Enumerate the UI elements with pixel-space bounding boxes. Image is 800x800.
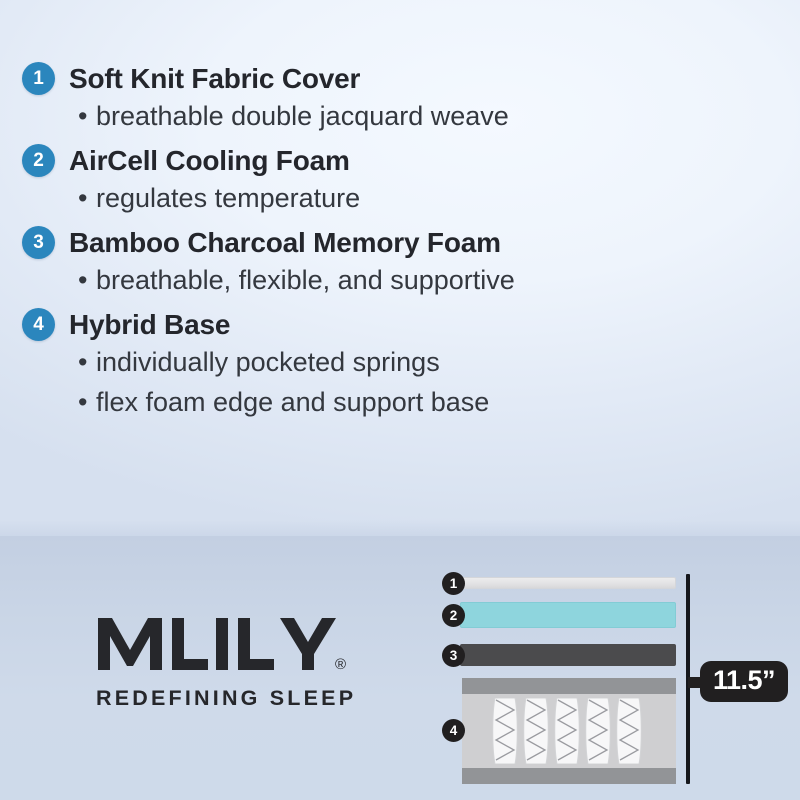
feature-bullets-2: • regulates temperature — [0, 179, 760, 218]
feature-list: 1 Soft Knit Fabric Cover • breathable do… — [0, 62, 760, 430]
bullet-dot-icon: • — [78, 383, 87, 422]
hybrid-base-bottom-band — [462, 768, 676, 784]
infographic-page: 1 Soft Knit Fabric Cover • breathable do… — [0, 0, 800, 800]
bullet-text: individually pocketed springs — [96, 347, 440, 377]
feature-item-3: 3 Bamboo Charcoal Memory Foam • breathab… — [0, 226, 760, 300]
feature-heading-1: 1 Soft Knit Fabric Cover — [0, 62, 760, 95]
feature-bullets-1: • breathable double jacquard weave — [0, 97, 760, 136]
bullet-dot-icon: • — [78, 261, 87, 300]
diagram-layer-2-aircell-cooling-foam — [460, 602, 676, 628]
feature-badge-1: 1 — [22, 62, 55, 95]
feature-title-2: AirCell Cooling Foam — [69, 145, 350, 177]
bullet-item: • breathable, flexible, and supportive — [0, 261, 760, 300]
feature-badge-3: 3 — [22, 226, 55, 259]
diagram-badge-1: 1 — [442, 572, 465, 595]
feature-title-1: Soft Knit Fabric Cover — [69, 63, 360, 95]
brand-tagline: REDEFINING SLEEP — [96, 686, 356, 711]
bullet-item: • regulates temperature — [0, 179, 760, 218]
bullet-dot-icon: • — [78, 97, 87, 136]
bullet-dot-icon: • — [78, 343, 87, 382]
feature-bullets-3: • breathable, flexible, and supportive — [0, 261, 760, 300]
diagram-badge-2: 2 — [442, 604, 465, 627]
bullet-item: • flex foam edge and support base — [0, 383, 760, 422]
diagram-layer-1-soft-knit-fabric-cover — [460, 577, 676, 589]
bullet-item: • individually pocketed springs — [0, 343, 760, 382]
bullet-text: breathable, flexible, and supportive — [96, 265, 515, 295]
diagram-layer-4-hybrid-base — [462, 678, 676, 784]
feature-badge-2: 2 — [22, 144, 55, 177]
hybrid-base-top-band — [462, 678, 676, 694]
feature-title-4: Hybrid Base — [69, 309, 230, 341]
feature-item-1: 1 Soft Knit Fabric Cover • breathable do… — [0, 62, 760, 136]
pocketed-springs-icon — [492, 698, 648, 764]
feature-bullets-4: • individually pocketed springs • flex f… — [0, 343, 760, 421]
bullet-item: • breathable double jacquard weave — [0, 97, 760, 136]
bullet-text: flex foam edge and support base — [96, 387, 489, 417]
feature-item-4: 4 Hybrid Base • individually pocketed sp… — [0, 308, 760, 421]
feature-heading-4: 4 Hybrid Base — [0, 308, 760, 341]
bullet-dot-icon: • — [78, 179, 87, 218]
feature-title-3: Bamboo Charcoal Memory Foam — [69, 227, 501, 259]
feature-badge-4: 4 — [22, 308, 55, 341]
brand-logo: ® REDEFINING SLEEP — [96, 614, 356, 711]
diagram-badge-4: 4 — [442, 719, 465, 742]
feature-heading-2: 2 AirCell Cooling Foam — [0, 144, 760, 177]
mattress-layer-diagram: 1 2 3 4 — [440, 566, 800, 796]
registered-trademark-icon: ® — [335, 657, 346, 672]
bullet-text: breathable double jacquard weave — [96, 101, 509, 131]
diagram-layer-3-bamboo-charcoal-memory-foam — [460, 644, 676, 666]
diagram-badge-3: 3 — [442, 644, 465, 667]
mlily-wordmark-icon: ® — [96, 614, 348, 674]
height-callout: 11.5” — [700, 661, 788, 702]
feature-heading-3: 3 Bamboo Charcoal Memory Foam — [0, 226, 760, 259]
feature-item-2: 2 AirCell Cooling Foam • regulates tempe… — [0, 144, 760, 218]
bullet-text: regulates temperature — [96, 183, 360, 213]
